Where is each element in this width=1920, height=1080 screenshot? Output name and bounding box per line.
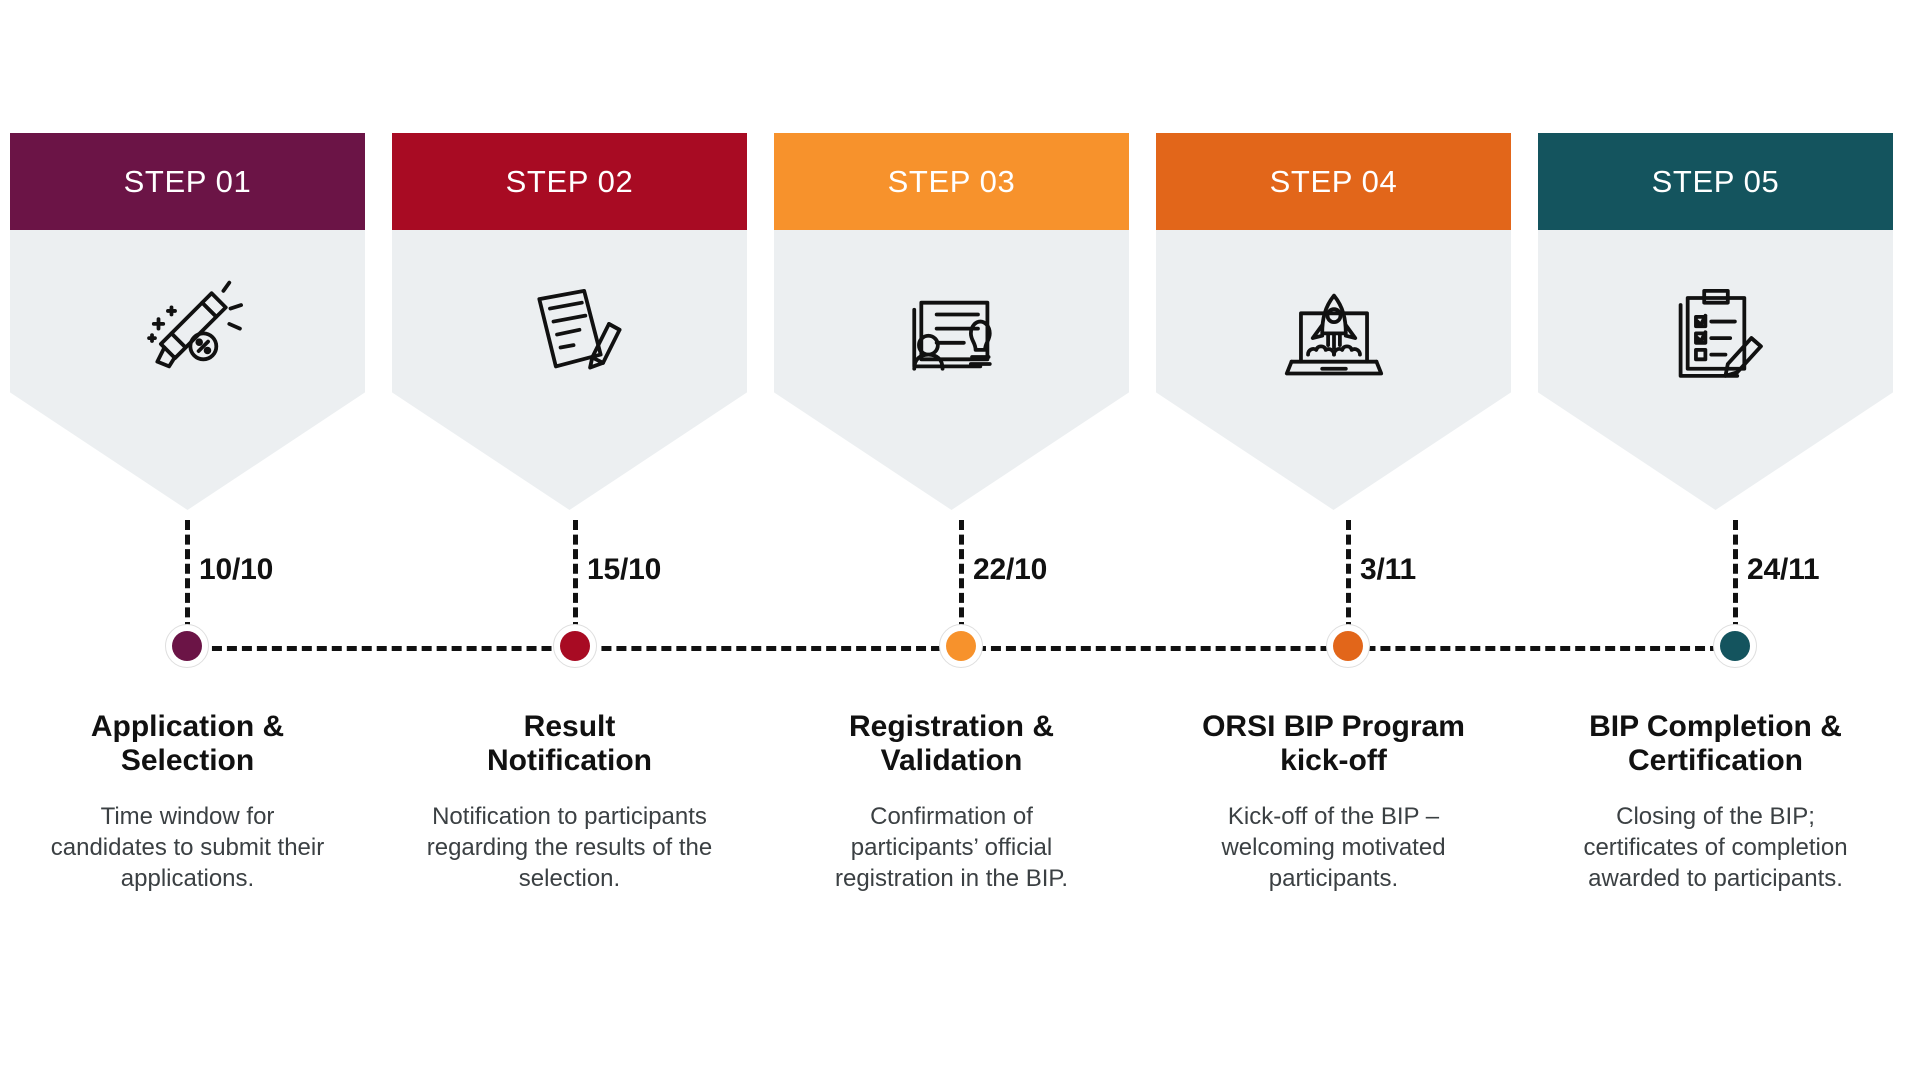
timeline-node-1[interactable]: 10/10 <box>187 520 189 670</box>
step-desc-3: Confirmation of participants’ official r… <box>774 802 1129 894</box>
step-header-2: STEP 02 <box>392 133 747 230</box>
step-desc-2: Notification to participants regarding t… <box>392 802 747 894</box>
step-header-label-4: STEP 04 <box>1270 164 1398 200</box>
step-header-4: STEP 04 <box>1156 133 1511 230</box>
step-header-5: STEP 05 <box>1538 133 1893 230</box>
timeline-stem-1 <box>185 520 190 632</box>
timeline-node-4[interactable]: 3/11 <box>1348 520 1350 670</box>
timeline-dot-ring-5 <box>1713 624 1757 668</box>
clipboard-checklist-pen-icon <box>1657 272 1775 390</box>
timeline-date-1: 10/10 <box>199 553 273 587</box>
step-caption-4: ORSI BIP Program kick-off Kick-off of th… <box>1156 710 1511 895</box>
timeline-date-5: 24/11 <box>1747 553 1819 587</box>
step-card-body-4 <box>1156 230 1511 510</box>
step-cards-row: STEP 01 <box>10 133 1910 510</box>
step-header-label-3: STEP 03 <box>888 164 1016 200</box>
timeline-date-3: 22/10 <box>973 553 1047 587</box>
step-captions-row: Application & Selection Time window for … <box>10 710 1910 895</box>
step-card-5[interactable]: STEP 05 <box>1538 133 1893 510</box>
document-pencil-icon <box>511 272 629 390</box>
step-card-1[interactable]: STEP 01 <box>10 133 365 510</box>
step-desc-4: Kick-off of the BIP – welcoming motivate… <box>1156 802 1511 894</box>
timeline-dot-3[interactable] <box>946 631 976 661</box>
timeline-dot-4[interactable] <box>1333 631 1363 661</box>
timeline-date-2: 15/10 <box>587 553 661 587</box>
timeline-node-2[interactable]: 15/10 <box>575 520 577 670</box>
step-caption-5: BIP Completion & Certification Closing o… <box>1538 710 1893 895</box>
timeline-dot-ring-1 <box>165 624 209 668</box>
timeline-dot-ring-3 <box>939 624 983 668</box>
step-header-1: STEP 01 <box>10 133 365 230</box>
step-header-3: STEP 03 <box>774 133 1129 230</box>
step-caption-3: Registration & Validation Confirmation o… <box>774 710 1129 895</box>
step-caption-2: Result Notification Notification to part… <box>392 710 747 895</box>
megaphone-announcement-icon <box>129 272 247 390</box>
step-title-3: Registration & Validation <box>774 710 1129 778</box>
timeline-stem-3 <box>959 520 964 632</box>
step-header-label-1: STEP 01 <box>124 164 252 200</box>
step-card-body-5 <box>1538 230 1893 510</box>
timeline-node-5[interactable]: 24/11 <box>1735 520 1737 670</box>
timeline-date-4: 3/11 <box>1360 553 1416 587</box>
laptop-rocket-launch-icon <box>1275 272 1393 390</box>
step-header-label-2: STEP 02 <box>506 164 634 200</box>
timeline-dot-2[interactable] <box>560 631 590 661</box>
timeline-stem-2 <box>573 520 578 632</box>
step-title-1: Application & Selection <box>10 710 365 778</box>
timeline-dot-5[interactable] <box>1720 631 1750 661</box>
step-card-body-2 <box>392 230 747 510</box>
timeline-diagram: STEP 01 <box>0 0 1920 1080</box>
step-card-3[interactable]: STEP 03 <box>774 133 1129 510</box>
timeline-node-3[interactable]: 22/10 <box>961 520 963 670</box>
step-card-body-3 <box>774 230 1129 510</box>
timeline-dot-ring-2 <box>553 624 597 668</box>
step-desc-5: Closing of the BIP; certificates of comp… <box>1538 802 1893 894</box>
step-title-2: Result Notification <box>392 710 747 778</box>
step-desc-1: Time window for candidates to submit the… <box>10 802 365 894</box>
step-card-4[interactable]: STEP 04 <box>1156 133 1511 510</box>
timeline-stem-5 <box>1733 520 1738 632</box>
step-title-4: ORSI BIP Program kick-off <box>1156 710 1511 778</box>
timeline-dot-1[interactable] <box>172 631 202 661</box>
step-title-5: BIP Completion & Certification <box>1538 710 1893 778</box>
step-header-label-5: STEP 05 <box>1652 164 1780 200</box>
timeline-stem-4 <box>1346 520 1351 632</box>
step-card-2[interactable]: STEP 02 <box>392 133 747 510</box>
step-card-body-1 <box>10 230 365 510</box>
step-caption-1: Application & Selection Time window for … <box>10 710 365 895</box>
timeline-axis-group: 10/10 15/10 22/10 3/11 <box>0 520 1920 670</box>
registration-person-stamp-icon <box>893 272 1011 390</box>
timeline-dot-ring-4 <box>1326 624 1370 668</box>
